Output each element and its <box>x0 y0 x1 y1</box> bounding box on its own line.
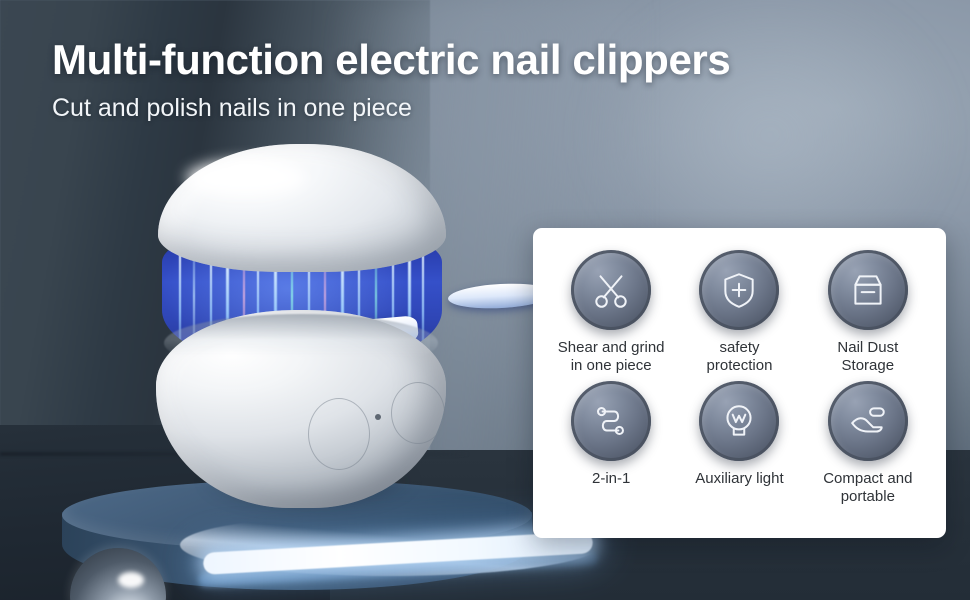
feature-item-compact-and-portable[interactable]: Compact and portable <box>804 381 932 506</box>
page-title: Multi-function electric nail clippers <box>52 36 730 84</box>
feature-item-auxiliary-light[interactable]: Auxiliary light <box>675 381 803 506</box>
feature-item-safety-protection[interactable]: safety protection <box>675 250 803 375</box>
product-lid <box>158 144 446 272</box>
product-image <box>148 142 468 502</box>
chrome-sphere-highlight <box>118 572 144 588</box>
product-indicator-led <box>375 414 381 420</box>
feature-icon-badge <box>828 381 908 461</box>
light-bulb-icon <box>718 400 760 442</box>
feature-card: Shear and grind in one piece safety <box>533 228 946 538</box>
page-subtitle: Cut and polish nails in one piece <box>52 94 412 123</box>
feature-icon-badge <box>571 250 651 330</box>
route-icon <box>590 400 632 442</box>
feature-label: Compact and portable <box>823 470 912 506</box>
feature-label: 2-in-1 <box>592 470 630 488</box>
feature-icon-badge <box>828 250 908 330</box>
product-lid-highlight <box>186 160 306 196</box>
feature-label: safety protection <box>707 339 773 375</box>
product-banner: Multi-function electric nail clippers Cu… <box>0 0 970 600</box>
product-button-right <box>391 382 445 444</box>
feature-label: Auxiliary light <box>695 470 783 488</box>
feature-icon-badge <box>699 250 779 330</box>
feature-label: Shear and grind in one piece <box>558 339 665 375</box>
storage-box-icon <box>847 269 889 311</box>
product-button-left <box>308 398 370 470</box>
feature-icon-badge <box>699 381 779 461</box>
feature-label: Nail Dust Storage <box>837 339 898 375</box>
scissors-icon <box>590 269 632 311</box>
feature-icon-badge <box>571 381 651 461</box>
feature-grid: Shear and grind in one piece safety <box>547 250 932 506</box>
feature-item-nail-dust-storage[interactable]: Nail Dust Storage <box>804 250 932 375</box>
hand-hold-icon <box>847 400 889 442</box>
product-body-rim <box>164 314 438 372</box>
shield-plus-icon <box>718 269 760 311</box>
feature-item-shear-and-grind[interactable]: Shear and grind in one piece <box>547 250 675 375</box>
feature-item-2-in-1[interactable]: 2-in-1 <box>547 381 675 506</box>
